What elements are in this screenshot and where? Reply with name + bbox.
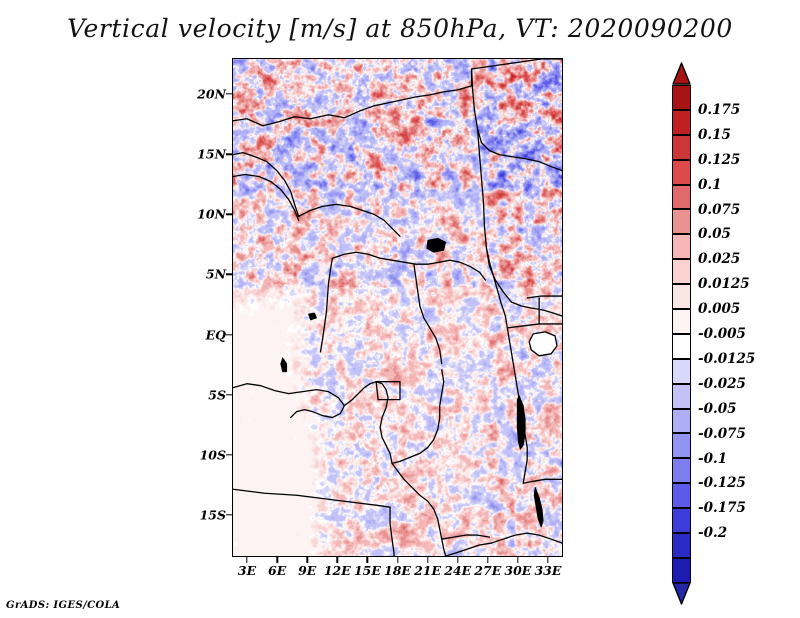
x-axis-tick-label: 27E: [474, 563, 501, 578]
colorbar-tick-label: 0.05: [698, 226, 731, 242]
x-axis-tick: [367, 557, 368, 563]
colorbar-tick-label: 0.075: [698, 202, 740, 218]
colorbar-cell: [672, 384, 691, 409]
y-axis-tick: [226, 514, 232, 515]
colorbar-cell: [672, 483, 691, 508]
colorbar-tick-label: 0.15: [698, 127, 731, 143]
map-plot-area: [232, 58, 563, 557]
x-axis-tick-label: 21E: [414, 563, 441, 578]
footer-credit: GrADS: IGES/COLA: [6, 600, 120, 611]
x-axis-tick: [276, 557, 277, 563]
colorbar-top-arrow-icon: [672, 62, 691, 85]
x-axis-tick: [517, 557, 518, 563]
y-axis-tick-label: 10N: [197, 207, 226, 222]
y-axis-tick: [226, 153, 232, 154]
x-axis-tick: [397, 557, 398, 563]
colorbar-cell: [672, 508, 691, 533]
colorbar-tick-label: 0.005: [698, 301, 740, 317]
x-axis: 3E6E9E12E15E18E21E24E27E30E33E: [232, 563, 563, 583]
colorbar-cell: [672, 209, 691, 234]
colorbar-cell: [672, 309, 691, 334]
y-axis-tick-label: 15S: [200, 507, 226, 522]
x-axis-tick-label: 3E: [238, 563, 256, 578]
vertical-velocity-field: [233, 59, 562, 556]
colorbar-cell: [672, 409, 691, 434]
x-axis-tick-label: 24E: [444, 563, 471, 578]
colorbar-bottom-arrow-icon: [672, 582, 691, 605]
colorbar-cell: [672, 85, 691, 110]
colorbar-cell: [672, 259, 691, 284]
colorbar-tick-label: -0.025: [698, 376, 746, 392]
colorbar-cell: [672, 458, 691, 483]
y-axis-tick: [226, 214, 232, 215]
colorbar-tick-label: 0.175: [698, 102, 740, 118]
x-axis-tick: [457, 557, 458, 563]
colorbar-tick-label: -0.0125: [698, 351, 755, 367]
colorbar-cell: [672, 284, 691, 309]
colorbar-cell: [672, 359, 691, 384]
x-axis-tick: [547, 557, 548, 563]
colorbar-cell: [672, 234, 691, 259]
y-axis-tick: [226, 394, 232, 395]
x-axis-tick-label: 6E: [268, 563, 286, 578]
x-axis-tick: [337, 557, 338, 563]
colorbar-tick-label: -0.05: [698, 401, 736, 417]
colorbar-tick-label: -0.1: [698, 451, 727, 467]
colorbar: 0.1750.150.1250.10.0750.050.0250.01250.0…: [668, 62, 788, 557]
y-axis-tick: [226, 454, 232, 455]
colorbar-tick-label: 0.1: [698, 177, 722, 193]
colorbar-tick-label: -0.175: [698, 500, 746, 516]
y-axis: 20N15N10N5NEQ5S10S15S: [180, 58, 226, 557]
y-axis-tick-label: 20N: [197, 87, 226, 102]
x-axis-tick-label: 18E: [384, 563, 411, 578]
colorbar-cell: [672, 433, 691, 458]
colorbar-tick-label: 0.0125: [698, 276, 750, 292]
x-axis-tick: [487, 557, 488, 563]
y-axis-tick-label: EQ: [206, 327, 226, 342]
y-axis-tick-label: 15N: [197, 147, 226, 162]
colorbar-cell: [672, 334, 691, 359]
colorbar-tick-label: 0.125: [698, 152, 740, 168]
x-axis-tick: [427, 557, 428, 563]
y-axis-tick-label: 5S: [208, 387, 226, 402]
colorbar-color-cells: [672, 85, 691, 583]
page-title: Vertical velocity [m/s] at 850hPa, VT: 2…: [0, 14, 800, 43]
x-axis-tick: [246, 557, 247, 563]
y-axis-tick-label: 5N: [206, 267, 226, 282]
colorbar-cell: [672, 110, 691, 135]
y-axis-tick: [226, 274, 232, 275]
x-axis-tick-label: 33E: [534, 563, 561, 578]
y-axis-tick-label: 10S: [200, 447, 226, 462]
colorbar-cell: [672, 558, 691, 583]
x-axis-tick-label: 15E: [354, 563, 381, 578]
x-axis-tick: [307, 557, 308, 563]
y-axis-tick: [226, 93, 232, 94]
colorbar-tick-label: -0.005: [698, 326, 746, 342]
colorbar-cell: [672, 533, 691, 558]
x-axis-tick-label: 30E: [504, 563, 531, 578]
colorbar-cell: [672, 135, 691, 160]
y-axis-tick: [226, 334, 232, 335]
colorbar-cell: [672, 185, 691, 210]
colorbar-cell: [672, 160, 691, 185]
x-axis-tick-label: 9E: [298, 563, 316, 578]
colorbar-tick-label: -0.2: [698, 525, 727, 541]
colorbar-tick-label: 0.025: [698, 251, 740, 267]
x-axis-tick-label: 12E: [324, 563, 351, 578]
colorbar-tick-label: -0.125: [698, 475, 746, 491]
colorbar-tick-label: -0.075: [698, 426, 746, 442]
